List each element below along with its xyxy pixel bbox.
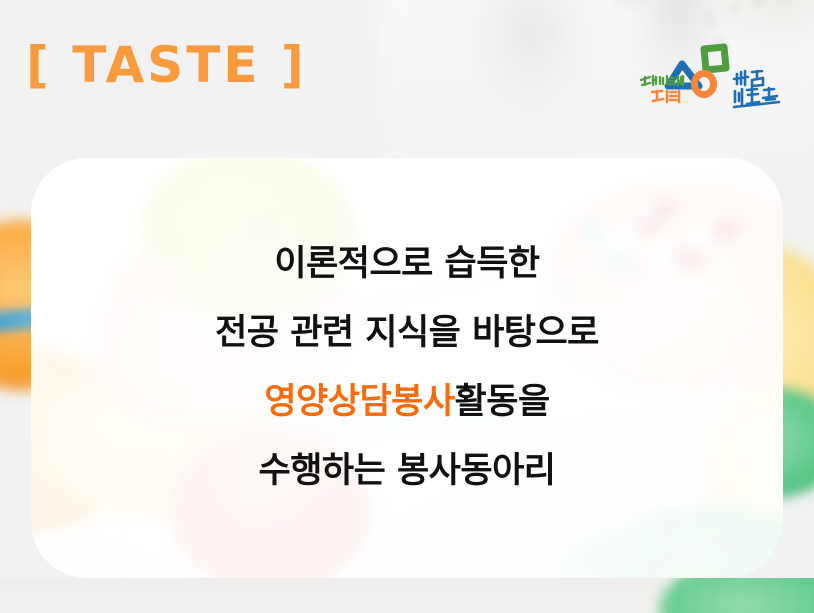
copy-line-3-highlight: 영양상담봉사 <box>264 382 454 422</box>
banana-shape <box>783 227 814 479</box>
orange-fruit-shape <box>0 220 31 390</box>
copy-line-3: 영양상담봉사활동을 <box>264 368 549 437</box>
measuring-tape-shape <box>783 388 814 498</box>
logo-university-line2 <box>734 88 779 107</box>
main-copy: 이론적으로 습득한 전공 관련 지식을 바탕으로 영양상담봉사활동을 수행하는 … <box>31 158 783 578</box>
logo-square-icon <box>704 47 726 70</box>
photo-bleed-left <box>0 158 31 578</box>
clipboard-edge-shape <box>0 303 31 332</box>
photo-bleed-bottom <box>0 578 814 613</box>
semyung-university-logo <box>638 22 808 117</box>
table-surface-shape <box>0 578 814 613</box>
logo-circle-icon <box>695 74 714 95</box>
logo-university-line1 <box>734 71 763 86</box>
copy-line-1: 이론적으로 습득한 <box>274 230 539 299</box>
poster-slide: [ TASTE ] <box>0 0 814 613</box>
photo-bleed-right <box>783 158 814 578</box>
measuring-tape-shape-bottom <box>660 578 814 613</box>
copy-line-3-rest: 활동을 <box>455 382 550 422</box>
poster-header: [ TASTE ] <box>0 0 814 158</box>
logo-tagline-line2 <box>652 91 679 102</box>
copy-line-4: 수행하는 봉사동아리 <box>259 437 556 506</box>
page-title: [ TASTE ] <box>26 36 307 94</box>
copy-line-2: 전공 관련 지식을 바탕으로 <box>215 299 599 368</box>
